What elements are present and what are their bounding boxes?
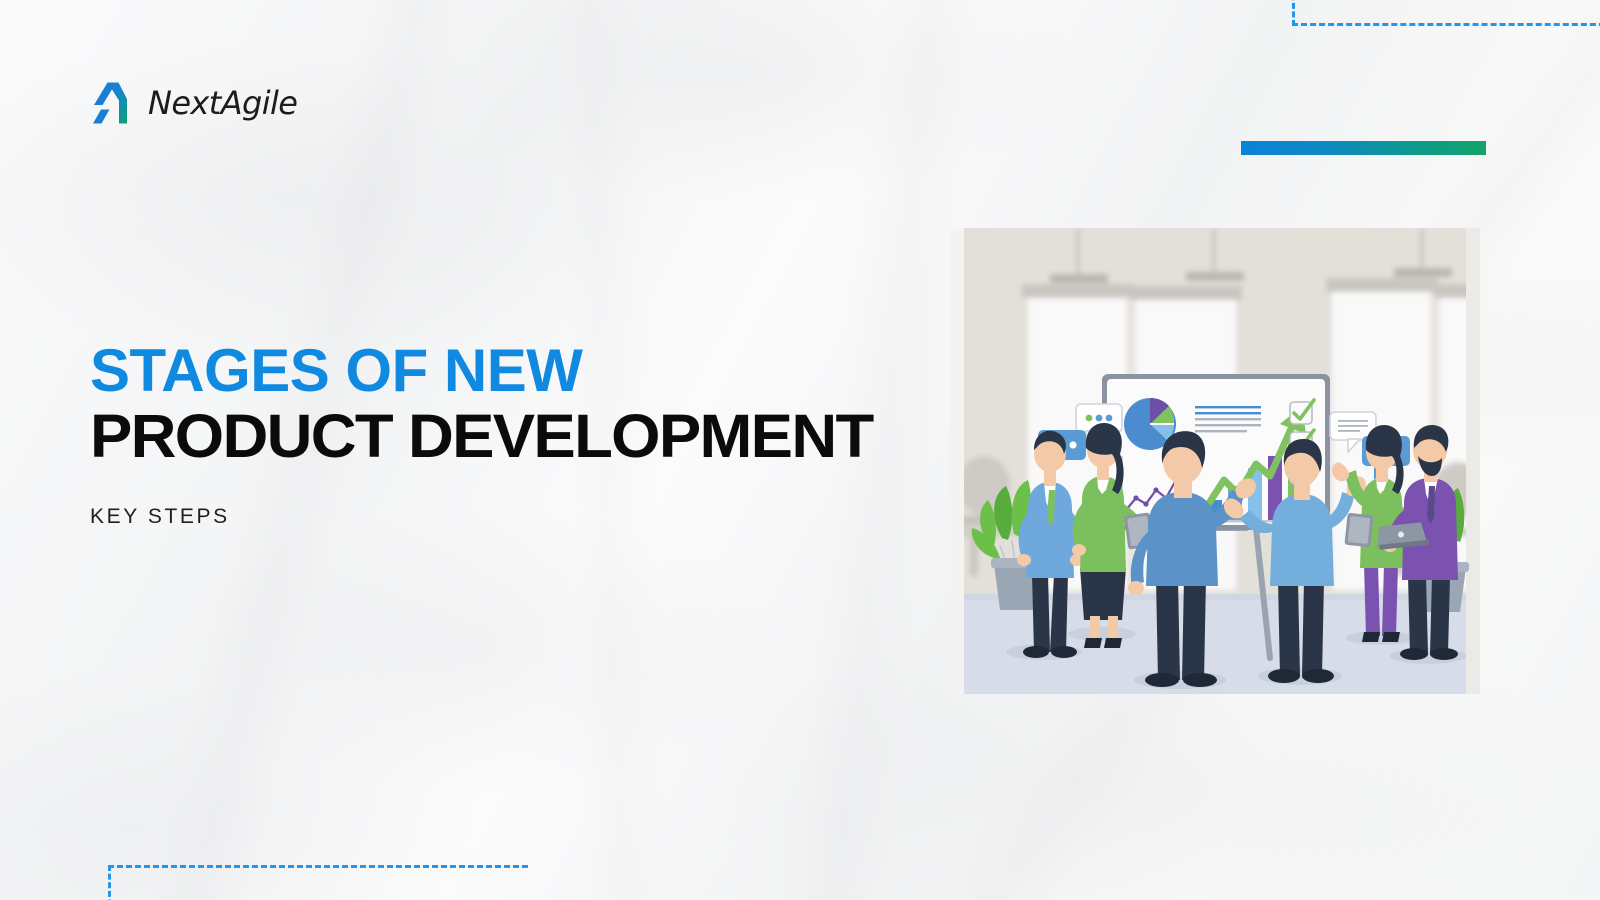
brand-logo: NextAgile: [89, 80, 297, 126]
page-title-line-2: PRODUCT DEVELOPMENT: [90, 402, 873, 470]
dashed-corner-frame-top-right: [1292, 0, 1600, 26]
dashed-corner-frame-bottom-left: [108, 865, 528, 900]
slide-canvas: NextAgile STAGES OF NEW PRODUCT DEVELOPM…: [0, 0, 1600, 900]
team-presentation-illustration: [950, 228, 1480, 694]
page-title-line-1: STAGES OF NEW: [90, 340, 842, 402]
brand-name: NextAgile: [148, 84, 297, 122]
page-subtitle: KEY STEPS: [90, 505, 842, 529]
gradient-accent-bar: [1241, 141, 1486, 155]
headline-block: STAGES OF NEW PRODUCT DEVELOPMENT KEY ST…: [90, 340, 842, 529]
nextagile-arrow-logo-icon: [89, 80, 135, 126]
